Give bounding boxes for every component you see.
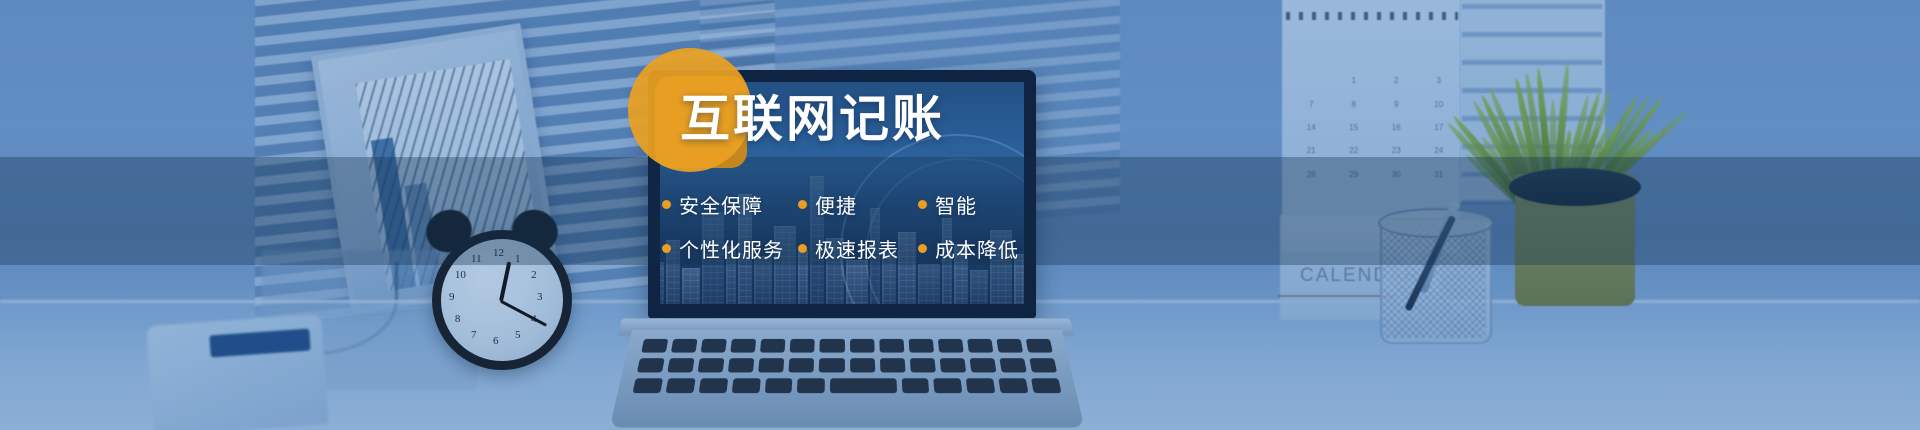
feature-item: 安全保障	[662, 190, 798, 219]
feature-label: 极速报表	[815, 234, 899, 263]
orange-dot-icon	[918, 200, 927, 209]
feature-row: 个性化服务极速报表成本降低	[662, 226, 1042, 270]
feature-item: 智能	[918, 190, 1018, 219]
promo-banner: 121234567891011 123789101415161721222324…	[0, 0, 1920, 430]
feature-item: 成本降低	[918, 234, 1018, 263]
banner-title: 互联网记账	[680, 94, 945, 144]
feature-item: 便捷	[798, 190, 918, 219]
feature-item: 极速报表	[798, 234, 918, 263]
feature-label: 安全保障	[679, 190, 763, 219]
orange-dot-icon	[662, 200, 671, 209]
feature-label: 便捷	[815, 190, 857, 219]
orange-dot-icon	[798, 200, 807, 209]
orange-dot-icon	[798, 244, 807, 253]
orange-dot-icon	[918, 244, 927, 253]
feature-row: 安全保障便捷智能	[662, 182, 1042, 226]
feature-label: 个性化服务	[679, 234, 784, 263]
feature-label: 成本降低	[935, 234, 1019, 263]
feature-item: 个性化服务	[662, 234, 798, 263]
feature-list: 安全保障便捷智能个性化服务极速报表成本降低	[662, 182, 1042, 270]
orange-dot-icon	[662, 244, 671, 253]
feature-label: 智能	[935, 190, 977, 219]
